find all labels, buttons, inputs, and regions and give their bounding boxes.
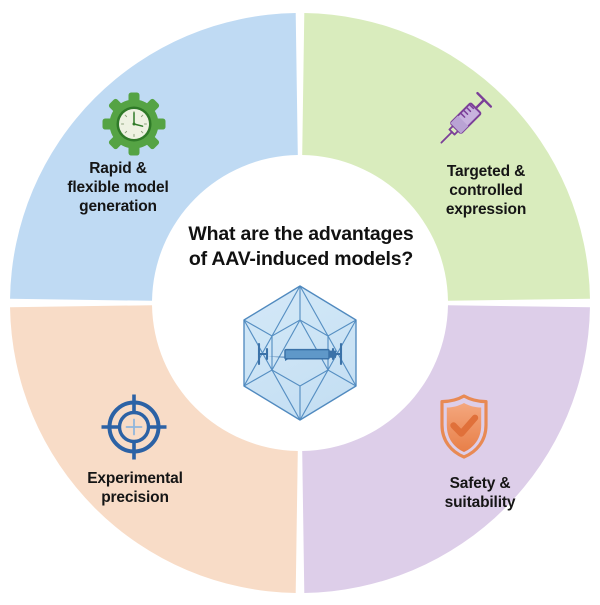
aav-capsid-icon	[227, 280, 373, 426]
quadrant-label-targeted-controlled-expression: Targeted & controlled expression	[406, 163, 566, 220]
quadrant-label-safety-suitability: Safety & suitability	[400, 475, 560, 513]
gear-clock-icon	[98, 88, 170, 160]
syringe-icon	[428, 84, 500, 156]
quadrant-label-experimental-precision: Experimental precision	[55, 470, 215, 508]
crosshair-target-icon	[98, 391, 170, 463]
quadrant-label-rapid-flexible-model-generation: Rapid & flexible model generation	[38, 160, 198, 217]
center-question-title: What are the advantages of AAV-induced m…	[168, 222, 434, 272]
shield-check-icon	[428, 390, 500, 462]
advantages-wheel-infographic: Rapid & flexible model generation Target…	[0, 0, 600, 605]
